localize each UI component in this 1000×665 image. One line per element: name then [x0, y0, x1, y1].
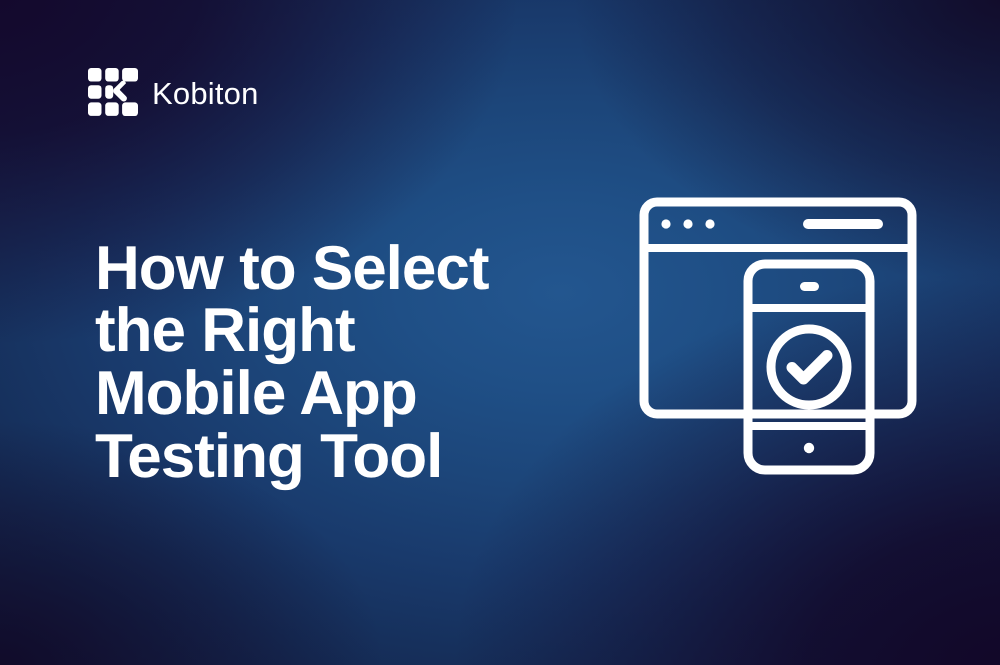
page-title: How to Select the Right Mobile App Testi…	[95, 238, 615, 490]
headline-line-2: the Right	[95, 300, 615, 363]
headline-line-3: Mobile App	[95, 363, 615, 426]
brand-wordmark: Kobiton	[152, 78, 259, 109]
brand-logo[interactable]: Kobiton	[88, 68, 259, 118]
illustration-svg	[628, 186, 928, 486]
phone-speaker-pill	[800, 282, 819, 291]
headline-line-1: How to Select	[95, 238, 615, 301]
browser-dot-1	[661, 219, 670, 228]
browser-dot-3	[705, 219, 714, 228]
banner-canvas: Kobiton How to Select the Right Mobile A…	[0, 0, 1000, 665]
check-mark-icon	[792, 356, 827, 380]
browser-address-pill	[803, 219, 883, 229]
mobile-app-testing-illustration	[628, 186, 928, 486]
phone-home-button-dot	[804, 443, 814, 453]
kobiton-grid-mark-icon	[88, 68, 138, 118]
browser-dot-2	[683, 219, 692, 228]
headline-line-4: Testing Tool	[95, 426, 615, 489]
